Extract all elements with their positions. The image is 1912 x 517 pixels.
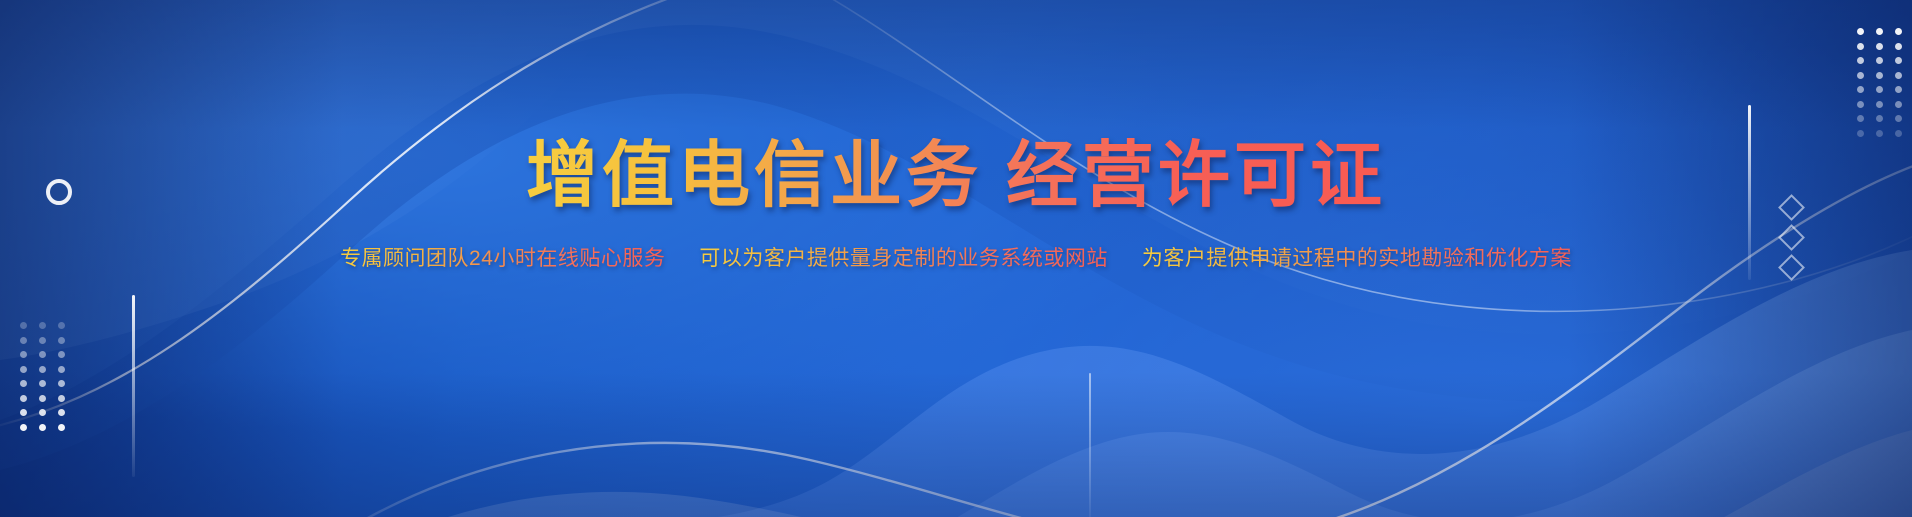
subtitle-segment-3: 为客户提供申请过程中的实地勘验和优化方案	[1142, 245, 1572, 272]
promo-banner: 增值电信业务 经营许可证 专属顾问团队24小时在线贴心服务 可以为客户提供量身定…	[0, 0, 1912, 517]
subtitle-segment-2: 可以为客户提供量身定制的业务系统或网站	[699, 245, 1108, 272]
banner-headline: 增值电信业务 经营许可证	[526, 138, 1386, 216]
subtitle-segment-1: 专属顾问团队24小时在线贴心服务	[340, 245, 665, 272]
banner-content: 增值电信业务 经营许可证 专属顾问团队24小时在线贴心服务 可以为客户提供量身定…	[0, 0, 1912, 517]
banner-subtitle: 专属顾问团队24小时在线贴心服务 可以为客户提供量身定制的业务系统或网站 为客户…	[340, 245, 1572, 272]
